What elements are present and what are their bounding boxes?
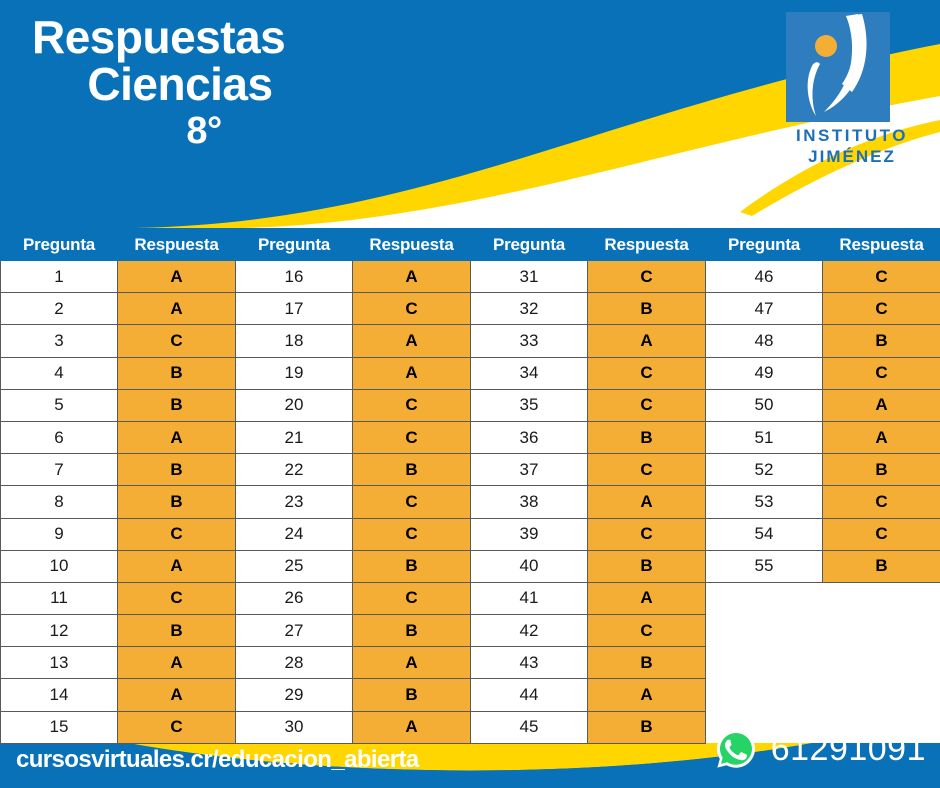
whatsapp-icon [715,728,757,770]
question-number-cell: 54 [706,518,823,550]
question-number-cell: 37 [471,454,588,486]
table-row: 11C26C41A [1,582,940,614]
question-number-cell: 12 [1,615,118,647]
question-number-cell: 6 [1,421,118,453]
answer-cell: A [588,582,706,614]
answer-cell: A [353,325,471,357]
table-row: 2A17C32B47C [1,293,940,325]
question-number-cell: 20 [236,389,353,421]
table-cell-empty [706,647,823,679]
whatsapp-contact[interactable]: 61291091 [715,728,926,770]
answer-cell: B [353,550,471,582]
table-row: 12B27B42C [1,615,940,647]
question-number-cell: 26 [236,582,353,614]
answer-cell: C [353,486,471,518]
question-number-cell: 17 [236,293,353,325]
table-row: 3C18A33A48B [1,325,940,357]
answer-cell: A [118,293,236,325]
question-number-cell: 3 [1,325,118,357]
answer-cell: A [118,550,236,582]
logo-name-line2: JIMÉNEZ [772,147,932,168]
answer-cell: C [353,293,471,325]
table-cell-empty [706,582,823,614]
answer-cell: A [353,647,471,679]
answer-cell: C [823,357,940,389]
column-header-respuesta-2: Respuesta [353,229,471,261]
question-number-cell: 25 [236,550,353,582]
answer-cell: C [588,389,706,421]
answer-cell: B [118,389,236,421]
website-url[interactable]: cursosvirtuales.cr/educacion_abierta [16,746,419,774]
answer-cell: C [353,582,471,614]
table-row: 1A16A31C46C [1,261,940,293]
table-cell-empty [706,615,823,647]
answer-cell: C [823,486,940,518]
question-number-cell: 1 [1,261,118,293]
question-number-cell: 38 [471,486,588,518]
answer-cell: A [353,261,471,293]
question-number-cell: 27 [236,615,353,647]
answer-cell: B [588,647,706,679]
question-number-cell: 10 [1,550,118,582]
question-number-cell: 19 [236,357,353,389]
question-number-cell: 23 [236,486,353,518]
answer-cell: A [118,421,236,453]
answer-cell: B [588,550,706,582]
answer-cell: A [823,389,940,421]
table-row: 9C24C39C54C [1,518,940,550]
question-number-cell: 43 [471,647,588,679]
question-number-cell: 55 [706,550,823,582]
logo-wordmark: INSTITUTO JIMÉNEZ [772,126,932,167]
column-header-pregunta-1: Pregunta [1,229,118,261]
answer-cell: C [353,518,471,550]
title-line-grade: 8° [10,112,340,151]
question-number-cell: 28 [236,647,353,679]
question-number-cell: 39 [471,518,588,550]
question-number-cell: 16 [236,261,353,293]
answer-cell: C [823,518,940,550]
column-header-respuesta-3: Respuesta [588,229,706,261]
table-row: 10A25B40B55B [1,550,940,582]
question-number-cell: 18 [236,325,353,357]
poster-footer: cursosvirtuales.cr/educacion_abierta 612… [0,698,940,788]
logo-mark-square [786,12,890,122]
answer-cell: C [588,261,706,293]
answers-table-container: Pregunta Respuesta Pregunta Respuesta Pr… [0,228,940,698]
table-header-row: Pregunta Respuesta Pregunta Respuesta Pr… [1,229,940,261]
question-number-cell: 41 [471,582,588,614]
question-number-cell: 32 [471,293,588,325]
question-number-cell: 8 [1,486,118,518]
table-cell-empty [823,615,940,647]
answer-cell: C [588,454,706,486]
answer-cell: A [588,325,706,357]
question-number-cell: 7 [1,454,118,486]
question-number-cell: 31 [471,261,588,293]
table-row: 13A28A43B [1,647,940,679]
answer-key-poster: Respuestas Ciencias 8° INSTITUTO JIMÉNEZ [0,0,940,788]
poster-header: Respuestas Ciencias 8° INSTITUTO JIMÉNEZ [0,0,940,228]
answer-cell: A [118,261,236,293]
answers-table: Pregunta Respuesta Pregunta Respuesta Pr… [0,228,940,744]
answer-cell: C [823,293,940,325]
table-row: 7B22B37C52B [1,454,940,486]
question-number-cell: 49 [706,357,823,389]
answer-cell: B [118,486,236,518]
answer-cell: C [118,582,236,614]
question-number-cell: 46 [706,261,823,293]
table-row: 8B23C38A53C [1,486,940,518]
question-number-cell: 5 [1,389,118,421]
question-number-cell: 22 [236,454,353,486]
question-number-cell: 34 [471,357,588,389]
answer-cell: C [588,357,706,389]
answer-cell: A [118,647,236,679]
answer-cell: C [118,518,236,550]
whatsapp-number: 61291091 [771,730,926,769]
question-number-cell: 33 [471,325,588,357]
answer-cell: B [823,550,940,582]
answer-cell: C [353,389,471,421]
answer-cell: A [588,486,706,518]
column-header-respuesta-1: Respuesta [118,229,236,261]
column-header-pregunta-4: Pregunta [706,229,823,261]
answer-cell: B [823,325,940,357]
table-cell-empty [823,647,940,679]
question-number-cell: 51 [706,421,823,453]
answer-cell: C [588,518,706,550]
question-number-cell: 42 [471,615,588,647]
question-number-cell: 35 [471,389,588,421]
question-number-cell: 48 [706,325,823,357]
institute-logo: INSTITUTO JIMÉNEZ [772,12,932,197]
question-number-cell: 13 [1,647,118,679]
question-number-cell: 21 [236,421,353,453]
question-number-cell: 24 [236,518,353,550]
answer-cell: A [353,357,471,389]
table-row: 6A21C36B51A [1,421,940,453]
question-number-cell: 36 [471,421,588,453]
answers-table-body: 1A16A31C46C2A17C32B47C3C18A33A48B4B19A34… [1,261,940,744]
title-line-subject: Ciencias [10,61,340,108]
table-row: 5B20C35C50A [1,389,940,421]
answer-cell: B [118,454,236,486]
answer-cell: B [118,357,236,389]
question-number-cell: 2 [1,293,118,325]
answer-cell: B [588,421,706,453]
answer-cell: C [353,421,471,453]
logo-name-line1: INSTITUTO [772,126,932,147]
answer-cell: B [823,454,940,486]
answer-cell: C [118,325,236,357]
answer-cell: A [823,421,940,453]
question-number-cell: 11 [1,582,118,614]
question-number-cell: 9 [1,518,118,550]
answer-cell: C [823,261,940,293]
question-number-cell: 47 [706,293,823,325]
answer-cell: C [588,615,706,647]
person-figure-icon [786,12,890,122]
column-header-respuesta-4: Respuesta [823,229,940,261]
question-number-cell: 53 [706,486,823,518]
question-number-cell: 50 [706,389,823,421]
table-cell-empty [823,582,940,614]
page-title: Respuestas Ciencias 8° [10,14,340,151]
question-number-cell: 40 [471,550,588,582]
answer-cell: B [588,293,706,325]
column-header-pregunta-2: Pregunta [236,229,353,261]
title-line-respuestas: Respuestas [10,14,340,61]
table-row: 4B19A34C49C [1,357,940,389]
answer-cell: B [118,615,236,647]
answer-cell: B [353,454,471,486]
column-header-pregunta-3: Pregunta [471,229,588,261]
question-number-cell: 4 [1,357,118,389]
question-number-cell: 52 [706,454,823,486]
answer-cell: B [353,615,471,647]
